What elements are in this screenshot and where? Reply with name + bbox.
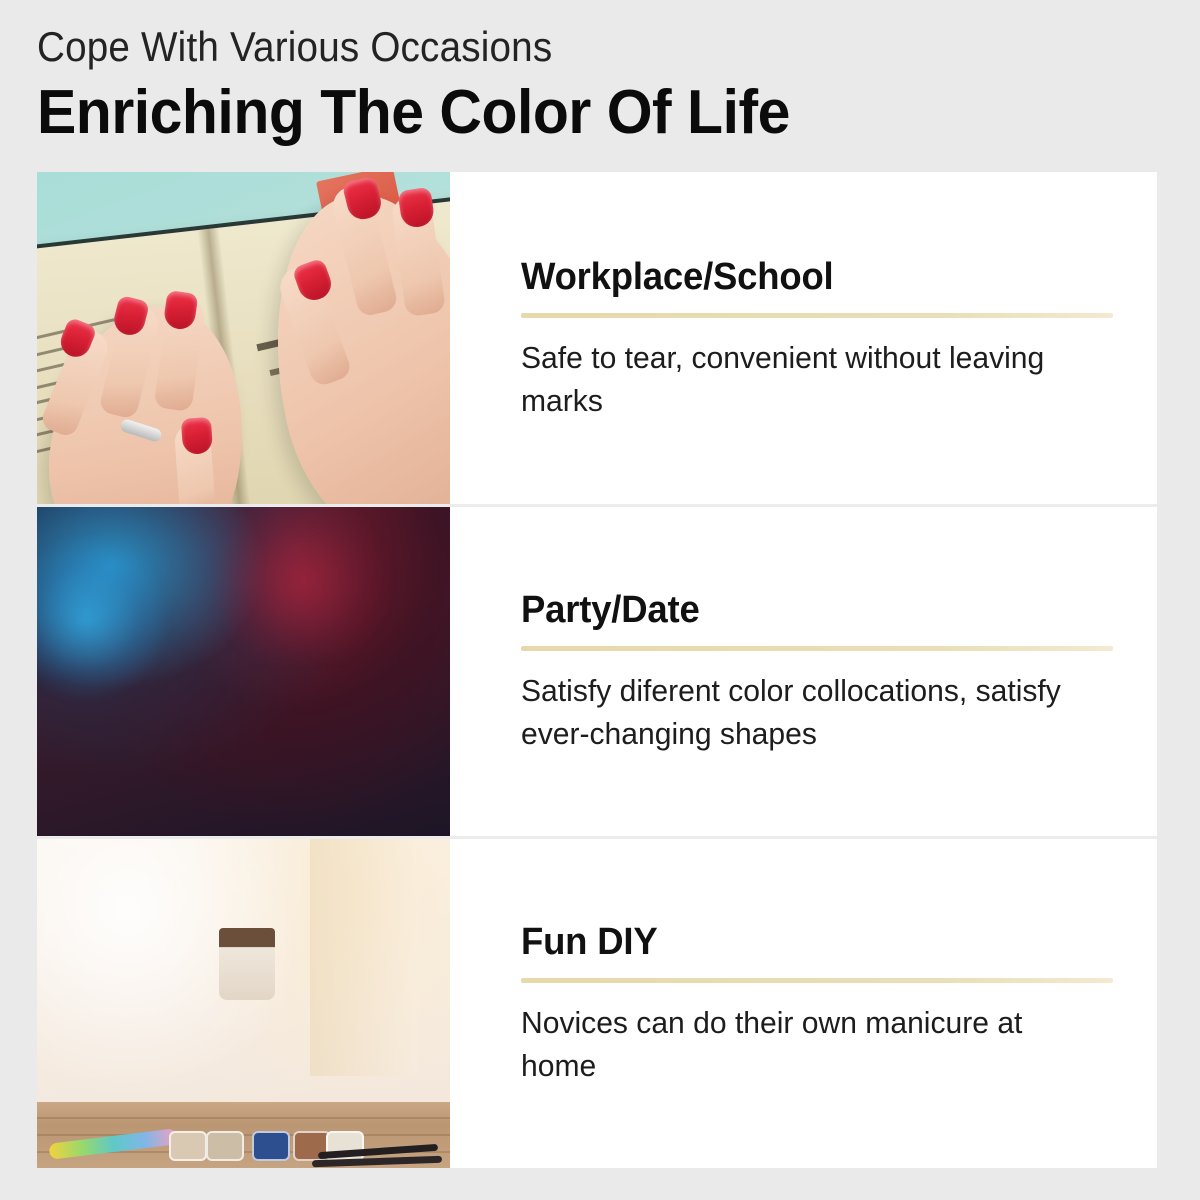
text-fun-diy: Fun DIY Novices can do their own manicur…	[450, 839, 1157, 1168]
page-title: Enriching The Color Of Life	[37, 76, 1101, 150]
header: Cope With Various Occasions Enriching Th…	[37, 22, 1157, 150]
feature-card: Workplace/School Safe to tear, convenien…	[37, 172, 1157, 1168]
section-rule	[521, 646, 1113, 651]
section-body-party-date: Satisfy diferent color collocations, sat…	[521, 669, 1103, 755]
text-workplace-school: Workplace/School Safe to tear, convenien…	[450, 172, 1157, 504]
infographic-page: Cope With Various Occasions Enriching Th…	[0, 0, 1200, 1200]
text-party-date: Party/Date Satisfy diferent color colloc…	[450, 507, 1157, 836]
feature-row-workplace-school: Workplace/School Safe to tear, convenien…	[37, 172, 1157, 504]
section-rule	[521, 978, 1113, 983]
nail-pot	[252, 1131, 290, 1161]
red-stage-light	[202, 507, 400, 658]
section-title-fun-diy: Fun DIY	[521, 920, 1132, 964]
section-title-party-date: Party/Date	[521, 588, 1132, 632]
section-body-workplace-school: Safe to tear, convenient without leaving…	[521, 336, 1103, 422]
photo-workplace-school	[37, 172, 450, 504]
blue-stage-light	[37, 533, 169, 704]
nail-pot	[169, 1131, 207, 1161]
photo-party-date	[37, 507, 450, 836]
header-eyebrow: Cope With Various Occasions	[37, 22, 1067, 72]
feature-row-party-date: Party/Date Satisfy diferent color colloc…	[37, 504, 1157, 836]
coffee-cup	[219, 928, 275, 1000]
feature-row-fun-diy: Fun DIY Novices can do their own manicur…	[37, 836, 1157, 1168]
window-curtain	[310, 839, 417, 1076]
section-title-workplace-school: Workplace/School	[521, 255, 1132, 299]
photo-fun-diy	[37, 839, 450, 1168]
section-body-fun-diy: Novices can do their own manicure at hom…	[521, 1001, 1103, 1087]
nail-pot	[206, 1131, 244, 1161]
section-rule	[521, 313, 1113, 318]
